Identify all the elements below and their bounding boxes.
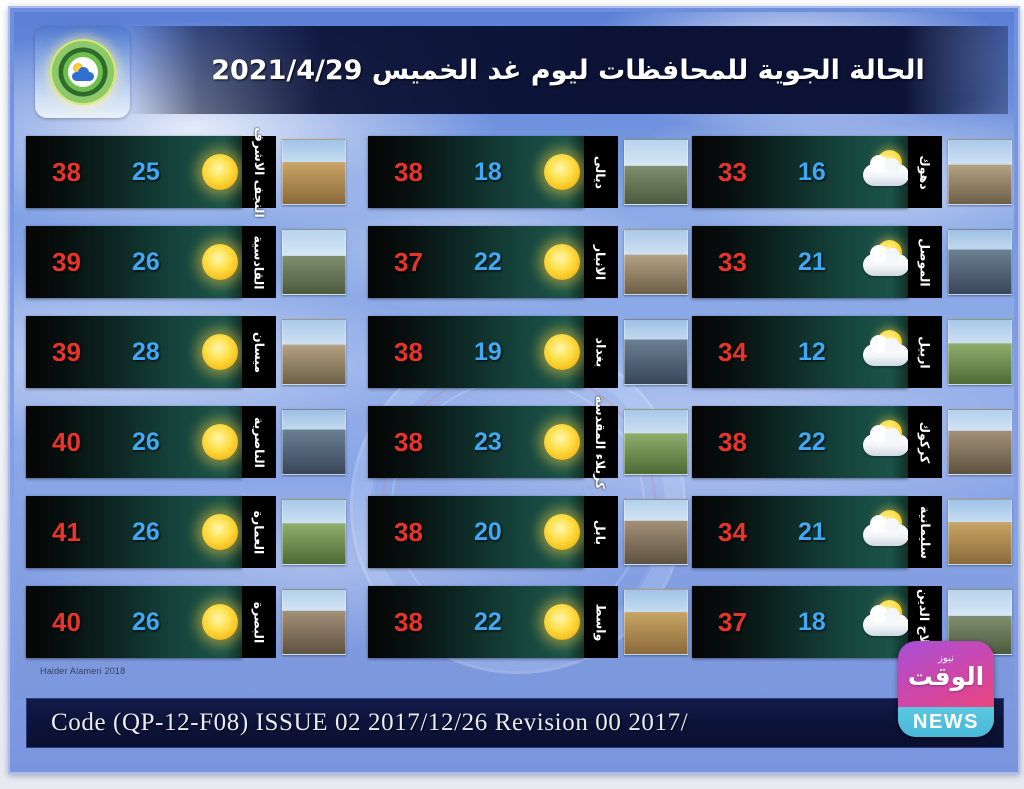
partly-cloudy-icon <box>860 508 908 556</box>
city-name: النجف الاشرف <box>252 127 267 218</box>
sun-disc-icon <box>544 424 580 460</box>
forecast-row: 3926القادسية <box>26 226 346 298</box>
sunny-icon <box>194 238 242 286</box>
city-name: القادسية <box>252 235 267 289</box>
news-logo-english: NEWS <box>898 707 994 737</box>
sun-disc-icon <box>202 244 238 280</box>
forecast-row: 3818ديالى <box>368 136 688 208</box>
forecast-grid: 3825النجف الاشرف3926القادسية3928ميسان402… <box>10 136 1018 676</box>
forecast-card: 3818 <box>368 136 584 208</box>
mosul-minaret-photo <box>948 229 1012 295</box>
city-label-strip: الانبار <box>584 226 618 298</box>
forecast-row: 3421سليمانية <box>692 496 1012 568</box>
erbil-citadel-photo <box>948 319 1012 385</box>
forecast-row: 3412اربيل <box>692 316 1012 388</box>
karbala-shrine-photo <box>624 409 688 475</box>
min-temperature: 22 <box>798 428 826 457</box>
min-temperature: 18 <box>474 158 502 187</box>
sunny-icon <box>536 418 584 466</box>
sun-cloud-icon <box>68 57 98 87</box>
sunny-icon <box>536 328 584 376</box>
cloud-icon <box>863 254 908 276</box>
forecast-row: 4126العمارة <box>26 496 346 568</box>
city-name: ديالى <box>594 155 609 188</box>
forecast-row: 3928ميسان <box>26 316 346 388</box>
city-name: العمارة <box>252 510 267 554</box>
forecast-card: 3928 <box>26 316 242 388</box>
city-label-strip: ميسان <box>242 316 276 388</box>
city-name: الناصرية <box>252 417 267 468</box>
min-temperature: 22 <box>474 248 502 277</box>
logo-cloud-icon <box>72 72 94 81</box>
anbar-waterwheel-photo <box>624 229 688 295</box>
min-temperature: 20 <box>474 518 502 547</box>
cloud-icon <box>863 434 908 456</box>
min-temperature: 22 <box>474 608 502 637</box>
news-logo-arabic: الوقت <box>908 664 984 689</box>
najaf-shrine-photo <box>282 139 346 205</box>
city-label-strip: بغداد <box>584 316 618 388</box>
news-logo-arabic-sub: نيوز <box>938 653 954 664</box>
city-label-strip: بابل <box>584 496 618 568</box>
baghdad-building-photo <box>624 319 688 385</box>
forecast-row: 3825النجف الاشرف <box>26 136 346 208</box>
sun-disc-icon <box>544 514 580 550</box>
min-temperature: 12 <box>798 338 826 367</box>
forecast-card: 4026 <box>26 586 242 658</box>
forecast-card: 3316 <box>692 136 908 208</box>
forecast-card: 3412 <box>692 316 908 388</box>
max-temperature: 38 <box>394 517 423 548</box>
document-code-text: Code (QP-12-F08) ISSUE 02 2017/12/26 Rev… <box>27 709 688 737</box>
sun-disc-icon <box>544 244 580 280</box>
city-name: سليمانية <box>918 506 933 559</box>
partly-cloudy-icon <box>860 148 908 196</box>
forecast-card: 3718 <box>692 586 908 658</box>
min-temperature: 18 <box>798 608 826 637</box>
page-title: الحالة الجوية للمحافظات ليوم غد الخميس 2… <box>211 55 925 86</box>
max-temperature: 38 <box>394 337 423 368</box>
cloud-icon <box>863 344 908 366</box>
forecast-row: 4026البصرة <box>26 586 346 658</box>
sun-disc-icon <box>544 154 580 190</box>
forecast-card: 3820 <box>368 496 584 568</box>
partly-cloudy-icon <box>860 328 908 376</box>
forecast-row: 3823كربلاء المقدسة <box>368 406 688 478</box>
sunny-icon <box>536 148 584 196</box>
organization-logo <box>35 26 130 118</box>
forecast-card: 3822 <box>692 406 908 478</box>
kirkuk-dome-photo <box>948 409 1012 475</box>
forecast-card: 3321 <box>692 226 908 298</box>
cloud-icon <box>863 164 908 186</box>
city-name: ميسان <box>252 332 267 373</box>
min-temperature: 21 <box>798 518 826 547</box>
max-temperature: 38 <box>52 157 81 188</box>
max-temperature: 34 <box>718 517 747 548</box>
cloud-icon <box>863 524 908 546</box>
max-temperature: 39 <box>52 337 81 368</box>
news-channel-logo[interactable]: نيوز الوقت NEWS <box>898 641 994 737</box>
city-name: اربيل <box>918 336 933 368</box>
city-label-strip: الموصل <box>908 226 942 298</box>
max-temperature: 37 <box>394 247 423 278</box>
sunny-icon <box>536 598 584 646</box>
babil-building-photo <box>624 499 688 565</box>
sunny-icon <box>194 328 242 376</box>
forecast-column-middle: 3818ديالى3722الانبار3819بغداد3823كربلاء … <box>368 136 688 676</box>
partly-cloudy-icon <box>860 238 908 286</box>
city-name: دهوك <box>918 155 933 189</box>
city-label-strip: الناصرية <box>242 406 276 478</box>
city-label-strip: سليمانية <box>908 496 942 568</box>
forecast-row: 3321الموصل <box>692 226 1012 298</box>
forecast-row: 3316دهوك <box>692 136 1012 208</box>
min-temperature: 21 <box>798 248 826 277</box>
partly-cloudy-icon <box>860 598 908 646</box>
sun-disc-icon <box>202 514 238 550</box>
max-temperature: 34 <box>718 337 747 368</box>
city-label-strip: ديالى <box>584 136 618 208</box>
weather-forecast-page: الحالة الجوية للمحافظات ليوم غد الخميس 2… <box>0 0 1024 789</box>
sun-disc-icon <box>202 334 238 370</box>
city-label-strip: دهوك <box>908 136 942 208</box>
forecast-board: الحالة الجوية للمحافظات ليوم غد الخميس 2… <box>8 6 1020 774</box>
min-temperature: 25 <box>132 158 160 187</box>
city-label-strip: البصرة <box>242 586 276 658</box>
forecast-row: 4026الناصرية <box>26 406 346 478</box>
max-temperature: 40 <box>52 607 81 638</box>
min-temperature: 26 <box>132 428 160 457</box>
city-name: بابل <box>594 519 609 544</box>
sunny-icon <box>194 508 242 556</box>
forecast-column-left: 3316دهوك3321الموصل3412اربيل3822كركوك3421… <box>692 136 1012 676</box>
sun-disc-icon <box>544 334 580 370</box>
forecast-card: 3926 <box>26 226 242 298</box>
sunny-icon <box>194 148 242 196</box>
sunny-icon <box>194 418 242 466</box>
city-label-strip: كركوك <box>908 406 942 478</box>
forecast-card: 3722 <box>368 226 584 298</box>
city-name: كركوك <box>918 421 933 463</box>
sunny-icon <box>194 598 242 646</box>
sun-disc-icon <box>202 424 238 460</box>
min-temperature: 26 <box>132 608 160 637</box>
dohuk-hills-photo <box>948 139 1012 205</box>
max-temperature: 41 <box>52 517 81 548</box>
forecast-row: 3822كركوك <box>692 406 1012 478</box>
sun-disc-icon <box>202 154 238 190</box>
forecast-card: 3822 <box>368 586 584 658</box>
seal-icon <box>50 39 116 105</box>
max-temperature: 38 <box>394 427 423 458</box>
city-name: الانبار <box>594 244 609 279</box>
max-temperature: 40 <box>52 427 81 458</box>
max-temperature: 33 <box>718 247 747 278</box>
amarah-fountain-photo <box>282 499 346 565</box>
amarah-tower-photo <box>282 319 346 385</box>
city-label-strip: النجف الاشرف <box>242 136 276 208</box>
forecast-row: 3819بغداد <box>368 316 688 388</box>
header-bar: الحالة الجوية للمحافظات ليوم غد الخميس 2… <box>128 26 1008 114</box>
forecast-card: 3825 <box>26 136 242 208</box>
document-code-bar: Code (QP-12-F08) ISSUE 02 2017/12/26 Rev… <box>26 698 1004 748</box>
city-label-strip: العمارة <box>242 496 276 568</box>
partly-cloudy-icon <box>860 418 908 466</box>
min-temperature: 26 <box>132 518 160 547</box>
min-temperature: 16 <box>798 158 826 187</box>
cloud-icon <box>863 614 908 636</box>
max-temperature: 39 <box>52 247 81 278</box>
diyala-park-photo <box>624 139 688 205</box>
wasit-arch-photo <box>624 589 688 655</box>
forecast-card: 4026 <box>26 406 242 478</box>
sun-disc-icon <box>544 604 580 640</box>
city-label-strip: واسط <box>584 586 618 658</box>
forecast-row: 3822واسط <box>368 586 688 658</box>
min-temperature: 26 <box>132 248 160 277</box>
sulaymaniyah-bridge-photo <box>948 499 1012 565</box>
city-name: بغداد <box>593 337 608 367</box>
city-name: كربلاء المقدسة <box>594 395 609 488</box>
nasiriyah-river-photo <box>282 409 346 475</box>
sunny-icon <box>536 238 584 286</box>
min-temperature: 23 <box>474 428 502 457</box>
forecast-card: 3421 <box>692 496 908 568</box>
forecast-row: 3722الانبار <box>368 226 688 298</box>
max-temperature: 37 <box>718 607 747 638</box>
city-label-strip: كربلاء المقدسة <box>584 406 618 478</box>
diwaniyah-monument-photo <box>282 229 346 295</box>
sun-disc-icon <box>202 604 238 640</box>
max-temperature: 33 <box>718 157 747 188</box>
forecast-row: 3820بابل <box>368 496 688 568</box>
max-temperature: 38 <box>718 427 747 458</box>
forecast-card: 3823 <box>368 406 584 478</box>
forecast-column-right: 3825النجف الاشرف3926القادسية3928ميسان402… <box>26 136 346 676</box>
max-temperature: 38 <box>394 607 423 638</box>
author-signature: Haider Alameri 2018 <box>40 666 125 676</box>
min-temperature: 28 <box>132 338 160 367</box>
forecast-card: 3819 <box>368 316 584 388</box>
forecast-card: 4126 <box>26 496 242 568</box>
max-temperature: 38 <box>394 157 423 188</box>
city-label-strip: القادسية <box>242 226 276 298</box>
sunny-icon <box>536 508 584 556</box>
city-name: الموصل <box>918 238 933 286</box>
basra-statue-photo <box>282 589 346 655</box>
city-label-strip: اربيل <box>908 316 942 388</box>
city-name: واسط <box>594 603 609 641</box>
city-name: البصرة <box>252 601 267 643</box>
min-temperature: 19 <box>474 338 502 367</box>
